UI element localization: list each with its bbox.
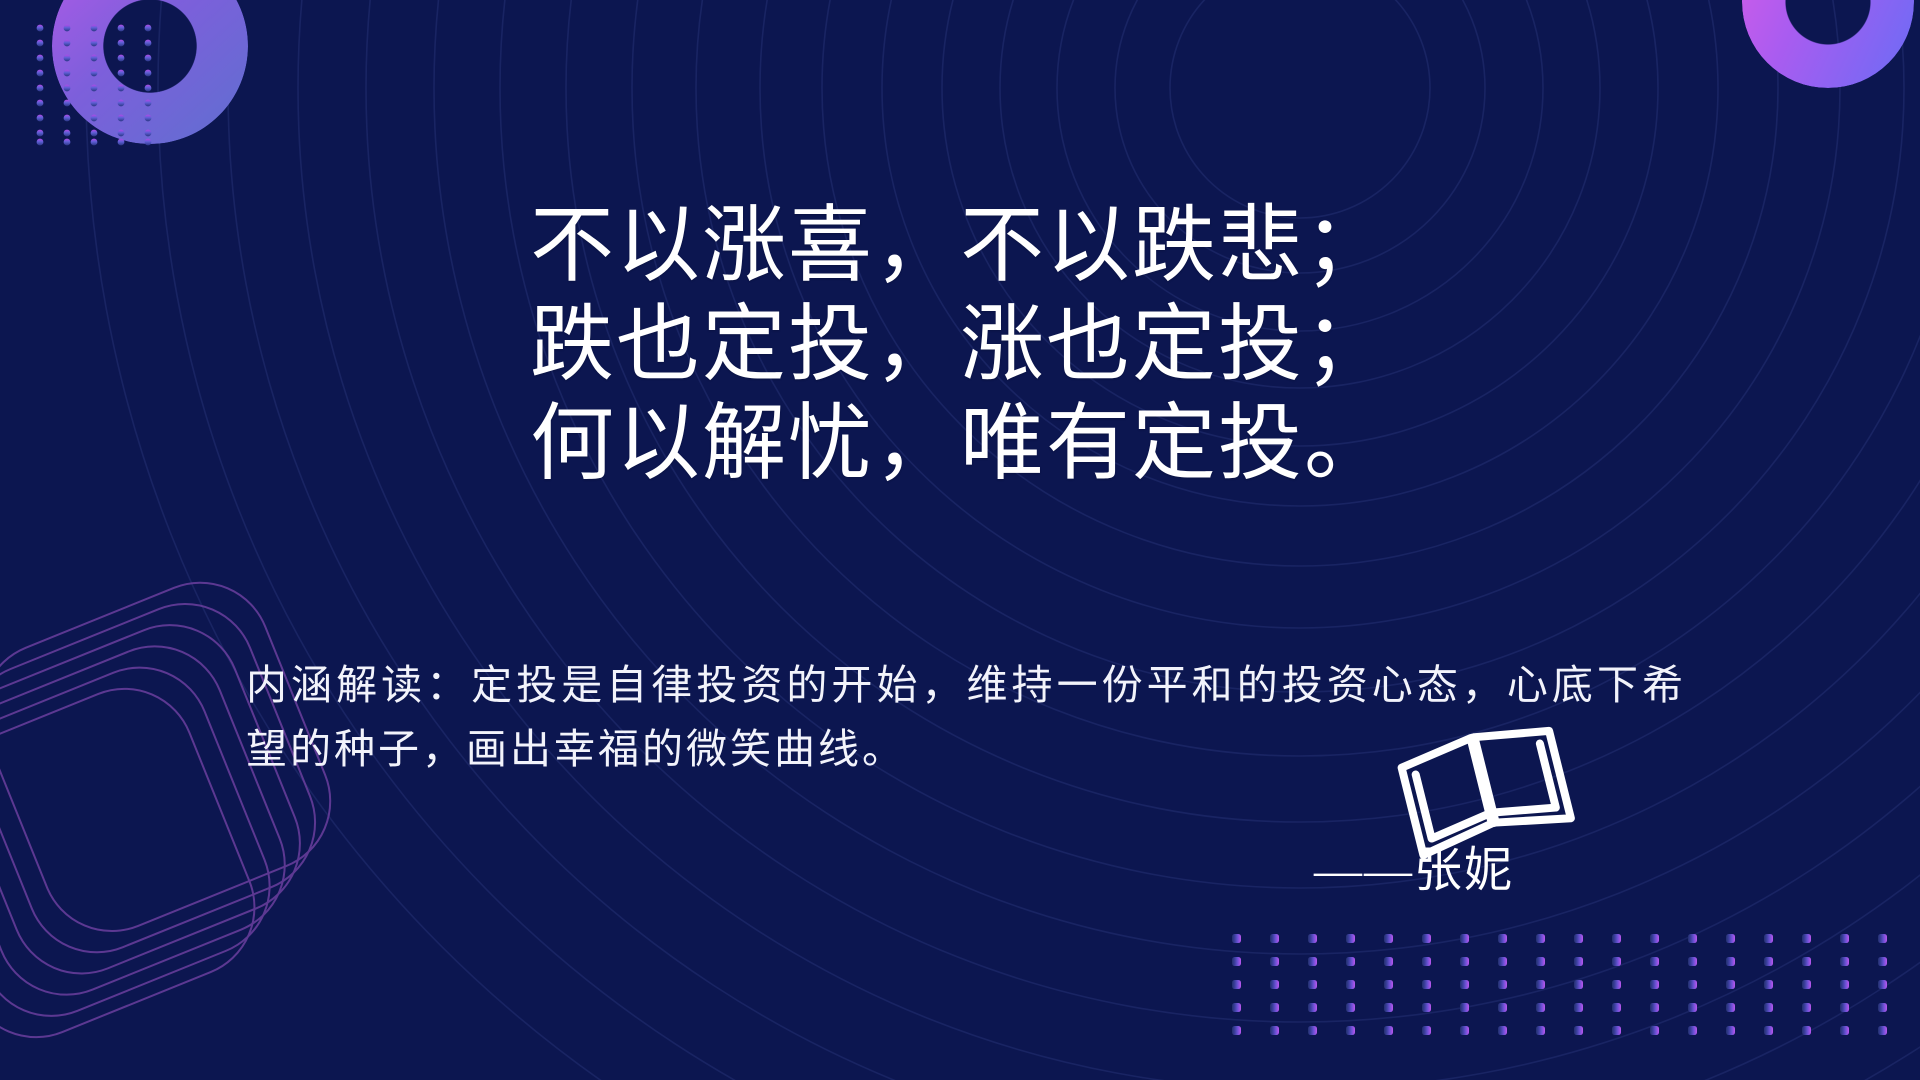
- attribution-author: ——张妮: [1314, 830, 1514, 900]
- slide-content: 不以涨喜，不以跌悲； 跌也定投，涨也定投； 何以解忧，唯有定投。 内涵解读：定投…: [0, 0, 1920, 1080]
- body-interpretation: 内涵解读：定投是自律投资的开始，维持一份平和的投资心态，心底下希望的种子，画出幸…: [246, 654, 1686, 781]
- headline-quote: 不以涨喜，不以跌悲； 跌也定投，涨也定投； 何以解忧，唯有定投。: [0, 196, 1920, 493]
- attribution-row: ——张妮: [0, 830, 1920, 900]
- slide-canvas: 不以涨喜，不以跌悲； 跌也定投，涨也定投； 何以解忧，唯有定投。 内涵解读：定投…: [0, 0, 1920, 1080]
